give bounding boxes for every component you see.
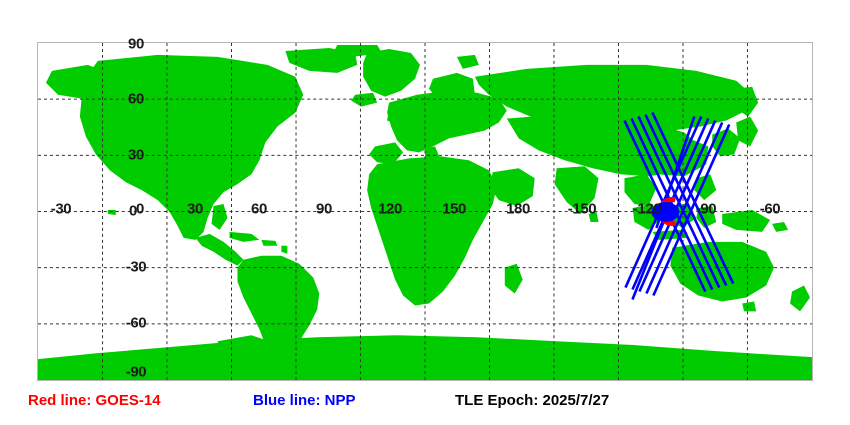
legend: Red line: GOES-14 Blue line: NPP TLE Epo… xyxy=(0,392,850,420)
legend-red-line: Red line: GOES-14 xyxy=(28,392,161,409)
world-map xyxy=(37,42,813,381)
map-canvas xyxy=(38,43,812,380)
npp-position-marker xyxy=(651,202,679,222)
screenshot-root: 90 60 30 0 -30 -60 -90 -30 0 30 60 90 12… xyxy=(0,0,850,425)
legend-blue-line: Blue line: NPP xyxy=(253,392,356,409)
legend-tle-epoch: TLE Epoch: 2025/7/27 xyxy=(455,392,609,409)
